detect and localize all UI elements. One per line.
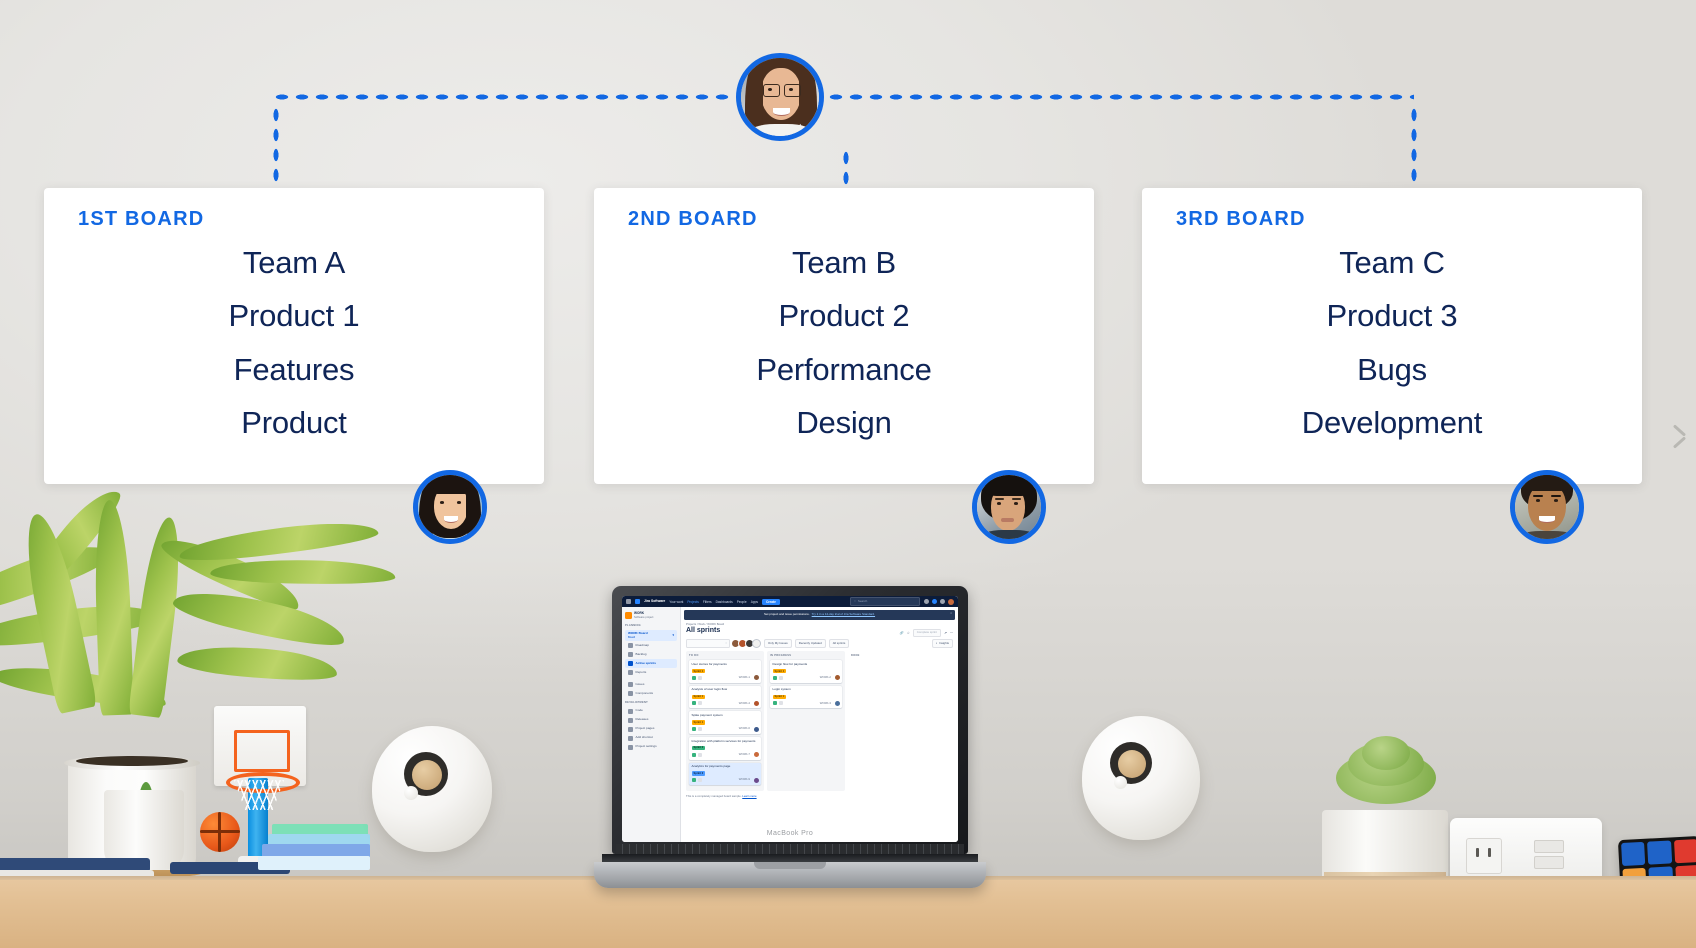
issue-title: Analytics for payments page (692, 765, 759, 769)
sidebar-section-development: DEVELOPMENT (625, 701, 677, 704)
issue-card-footer: WORK-9 (692, 778, 759, 783)
avatar[interactable] (754, 675, 759, 680)
sidebar-label-issues: Issues (636, 683, 645, 687)
code-icon (628, 709, 633, 714)
priority-icon (698, 753, 702, 757)
connector-vertical-left (272, 105, 280, 193)
priority-icon (779, 701, 783, 705)
board-card-1-line-3: Features (44, 343, 544, 396)
sidebar-item-add-shortcut[interactable]: Add shortcut (625, 734, 677, 743)
priority-icon (698, 701, 702, 705)
column-in-progress: IN PROGRESS Design flow for payments Spr… (767, 651, 845, 791)
macbook-pro-laptop: Jira Software Your work Projects Filters… (594, 586, 986, 904)
sidebar-item-project-pages[interactable]: Project pages (625, 725, 677, 734)
issue-title: Login system (773, 688, 840, 692)
board-selector-sub: Board (628, 636, 635, 639)
sprint-tag: Sprint 1 (773, 669, 787, 673)
issue-card[interactable]: Login system Sprint 1 WORK-3 (770, 686, 842, 709)
issue-card[interactable]: Analytics for payments page Sprint 2 WOR… (689, 763, 761, 786)
pages-icon (628, 727, 633, 732)
board-card-3-line-4: Development (1142, 396, 1642, 449)
board-card-2-line-4: Design (594, 396, 1094, 449)
board-columns: TO DO User stories for payments Sprint 1… (686, 651, 953, 791)
filter-recently-updated[interactable]: Recently Updated (795, 639, 826, 648)
board-search-input[interactable]: ○ (686, 639, 730, 648)
team-lead-avatar[interactable] (736, 53, 824, 141)
issue-key: WORK-3 (820, 702, 831, 705)
sprint-tag: Sprint 2 (692, 746, 706, 750)
nav-item-apps[interactable]: Apps (751, 600, 758, 604)
sprint-tag: Sprint 1 (692, 720, 706, 724)
board-card-2-lines: Team B Product 2 Performance Design (594, 236, 1094, 449)
priority-icon (698, 778, 702, 782)
gear-icon (628, 745, 633, 750)
sidebar-item-issues[interactable]: Issues (625, 680, 677, 689)
share-icon[interactable]: ↗ (944, 631, 947, 635)
sidebar-label-roadmap: Roadmap (636, 644, 649, 648)
avatar[interactable] (754, 701, 759, 706)
nav-item-your-work[interactable]: Your work (669, 600, 683, 604)
sidebar-label-reports: Reports (636, 671, 647, 675)
sidebar-label-add-shortcut: Add shortcut (636, 736, 653, 740)
issue-key: WORK-9 (739, 778, 750, 781)
issue-card[interactable]: User stories for payments Sprint 1 WORK-… (689, 660, 761, 683)
issue-key: WORK-7 (739, 753, 750, 756)
issue-type-icon (692, 676, 696, 680)
project-name: WORK (634, 611, 644, 615)
column-header: TO DO (689, 654, 761, 657)
sidebar-label-active-sprints: Active sprints (636, 662, 656, 666)
avatar-photo (1515, 475, 1579, 539)
issue-title: Design flow for payments (773, 663, 840, 667)
issue-card-footer: WORK-7 (692, 752, 759, 757)
insights-button[interactable]: ▪ Insights (932, 639, 953, 648)
priority-icon (698, 676, 702, 680)
jira-body: WORK Software project PLANNING WORK Boar… (622, 607, 958, 842)
nav-icon-group (924, 599, 954, 605)
app-switcher-icon[interactable] (626, 599, 631, 604)
connector-horizontal-right (826, 93, 1414, 101)
issue-type-icon (773, 676, 777, 680)
issue-card[interactable]: Analysis of user login flow Sprint 1 WOR… (689, 686, 761, 709)
more-icon[interactable]: ⋯ (950, 631, 953, 635)
avatar[interactable] (754, 778, 759, 783)
close-icon[interactable]: × (950, 612, 952, 616)
sidebar-item-roadmap[interactable]: Roadmap (625, 641, 677, 650)
insights-icon: ▪ (936, 642, 937, 646)
search-icon: ○ (725, 642, 727, 646)
roadmap-icon (628, 643, 633, 648)
avatar-photo (977, 475, 1041, 539)
board-card-1-line-1: Team A (44, 236, 544, 289)
sidebar-item-active-sprints[interactable]: Active sprints (625, 659, 677, 668)
connector-vertical-right (1410, 105, 1418, 193)
chevron-down-icon: ▾ (672, 634, 674, 638)
laptop-hinge (602, 854, 978, 862)
jira-brand-label[interactable]: Jira Software (644, 599, 665, 603)
board-card-2-line-2: Product 2 (594, 289, 1094, 342)
column-header: DONE (851, 654, 923, 657)
board-card-3-line-3: Bugs (1142, 343, 1642, 396)
avatar[interactable] (835, 701, 840, 706)
column-done: DONE (848, 651, 926, 791)
avatar-more[interactable] (752, 639, 761, 648)
issue-card[interactable]: Integration with platform services for p… (689, 737, 761, 760)
board-selector-label: WORK Board (628, 631, 648, 635)
issue-card-footer: WORK-1 (692, 675, 759, 680)
board-card-3[interactable]: 3RD BOARD Team C Product 3 Bugs Developm… (1142, 188, 1642, 484)
board-card-2-line-1: Team B (594, 236, 1094, 289)
board-toolbar: ○ Only My Issues Recently Updated All sp… (686, 639, 953, 648)
sidebar-item-components[interactable]: Components (625, 689, 677, 698)
nav-item-filters[interactable]: Filters (703, 600, 712, 604)
board-card-1-line-2: Product 1 (44, 289, 544, 342)
issue-title: Analysis of user login flow (692, 688, 759, 692)
board-card-3-line-2: Product 3 (1142, 289, 1642, 342)
filter-only-my-issues[interactable]: Only My Issues (764, 639, 792, 648)
sidebar-section-planning: PLANNING (625, 624, 677, 627)
column-header: IN PROGRESS (770, 654, 842, 657)
reports-icon (628, 670, 633, 675)
avatar[interactable] (835, 675, 840, 680)
board-card-3-eyebrow: 3RD BOARD (1176, 208, 1306, 231)
issue-type-icon (692, 727, 696, 731)
board-card-1[interactable]: 1ST BOARD Team A Product 1 Features Prod… (44, 188, 544, 484)
chevron-right-icon[interactable] (1668, 420, 1690, 454)
page-title: All sprints (686, 627, 720, 636)
sidebar-label-components: Components (636, 692, 654, 696)
assignee-avatar-group (733, 639, 761, 648)
jira-top-nav: Jira Software Your work Projects Filters… (622, 596, 958, 607)
jira-logo-icon (635, 599, 640, 604)
releases-icon (628, 718, 633, 723)
sidebar-label-project-pages: Project pages (636, 727, 655, 731)
star-icon[interactable]: ☆ (907, 631, 910, 635)
board-card-3-lines: Team C Product 3 Bugs Development (1142, 236, 1642, 449)
sidebar-project-header[interactable]: WORK Software project (625, 611, 677, 619)
board-card-3-avatar[interactable] (1510, 470, 1584, 544)
connector-horizontal-left (272, 93, 734, 101)
learn-more-link[interactable]: Learn more (742, 794, 756, 798)
plus-icon[interactable] (924, 599, 929, 604)
board-card-1-lines: Team A Product 1 Features Product (44, 236, 544, 449)
board-card-1-avatar[interactable] (413, 470, 487, 544)
sprint-tag: Sprint 2 (692, 771, 706, 775)
issues-icon (628, 682, 633, 687)
priority-icon (698, 727, 702, 731)
components-icon (628, 691, 633, 696)
global-search-input[interactable]: ○ Search (850, 597, 920, 606)
issue-key: WORK-1 (739, 676, 750, 679)
board-footer-note: This is a completely managed board sampl… (686, 795, 953, 798)
breadcrumb[interactable]: Projects / Work / WORK Board (686, 623, 953, 626)
issue-card-footer: WORK-6 (692, 727, 759, 732)
search-placeholder: Search (858, 600, 868, 604)
issue-card-footer: WORK-3 (773, 701, 840, 706)
priority-icon (779, 676, 783, 680)
jira-sidebar: WORK Software project PLANNING WORK Boar… (622, 607, 681, 842)
issue-type-icon (692, 753, 696, 757)
laptop-notch (754, 862, 826, 869)
nav-item-dashboards[interactable]: Dashboards (716, 600, 733, 604)
sidebar-item-project-settings[interactable]: Project settings (625, 743, 677, 752)
issue-key: WORK-4 (739, 702, 750, 705)
notifications-icon[interactable] (932, 599, 937, 604)
nav-item-people[interactable]: People (737, 600, 747, 604)
sidebar-label-code: Code (636, 709, 643, 713)
backlog-icon (628, 652, 633, 657)
avatar[interactable] (754, 727, 759, 732)
insights-label: Insights (939, 642, 949, 646)
profile-avatar[interactable] (948, 599, 954, 605)
board-card-2-avatar[interactable] (972, 470, 1046, 544)
sidebar-label-releases: Releases (636, 718, 649, 722)
issue-title: Spike payment system (692, 714, 759, 718)
project-type: Software project (634, 616, 653, 619)
sidebar-label-backlog: Backlog (636, 653, 647, 657)
footer-note-text: This is a completely managed board sampl… (686, 794, 742, 798)
sprint-tag: Sprint 1 (692, 695, 706, 699)
board-selector[interactable]: WORK Board Board ▾ (625, 630, 677, 642)
sprint-tag: Sprint 1 (773, 695, 787, 699)
avatar-photo (418, 475, 482, 539)
plus-icon (628, 736, 633, 741)
help-icon[interactable] (940, 599, 945, 604)
permissions-banner: Set project and issue permissions. Try i… (684, 610, 955, 620)
board-card-1-eyebrow: 1ST BOARD (78, 208, 204, 231)
page-title-actions: 🔗 ☆ Complete sprint ↗ ⋯ (900, 629, 953, 637)
banner-text: Set project and issue permissions. (764, 613, 810, 617)
avatar[interactable] (754, 752, 759, 757)
issue-card[interactable]: Design flow for payments Sprint 1 WORK-2 (770, 660, 842, 683)
sidebar-item-code[interactable]: Code (625, 707, 677, 716)
issue-type-icon (692, 701, 696, 705)
link-icon[interactable]: 🔗 (900, 631, 904, 635)
sprint-tag: Sprint 1 (692, 669, 706, 673)
issue-title: Integration with platform services for p… (692, 740, 759, 744)
project-avatar-icon (625, 612, 632, 619)
avatar-photo (741, 58, 819, 136)
issue-card-footer: WORK-2 (773, 675, 840, 680)
jira-software-app: Jira Software Your work Projects Filters… (622, 596, 958, 842)
issue-type-icon (773, 701, 777, 705)
issue-card-footer: WORK-4 (692, 701, 759, 706)
filter-all-sprints[interactable]: All sprints (829, 639, 850, 648)
sidebar-item-releases[interactable]: Releases (625, 716, 677, 725)
issue-key: WORK-2 (820, 676, 831, 679)
jira-main-content: Set project and issue permissions. Try i… (681, 607, 958, 842)
board-card-3-line-1: Team C (1142, 236, 1642, 289)
create-button[interactable]: Create (762, 599, 780, 605)
search-icon: ○ (854, 600, 856, 604)
issue-type-icon (692, 778, 696, 782)
board-card-1-line-4: Product (44, 396, 544, 449)
column-todo: TO DO User stories for payments Sprint 1… (686, 651, 764, 791)
issue-title: User stories for payments (692, 663, 759, 667)
board-card-2[interactable]: 2ND BOARD Team B Product 2 Performance D… (594, 188, 1094, 484)
issue-card[interactable]: Spike payment system Sprint 1 WORK-6 (689, 711, 761, 734)
laptop-screen: Jira Software Your work Projects Filters… (622, 596, 958, 842)
issue-key: WORK-6 (739, 727, 750, 730)
nav-item-projects[interactable]: Projects (687, 600, 699, 604)
laptop-model-label: MacBook Pro (594, 830, 986, 837)
sidebar-item-reports[interactable]: Reports (625, 668, 677, 677)
page-title-row: All sprints 🔗 ☆ Complete sprint ↗ ⋯ (681, 627, 958, 639)
sidebar-item-backlog[interactable]: Backlog (625, 650, 677, 659)
board-card-2-eyebrow: 2ND BOARD (628, 208, 758, 231)
basketball (200, 812, 240, 852)
sidebar-label-project-settings: Project settings (636, 745, 657, 749)
board-card-2-line-3: Performance (594, 343, 1094, 396)
complete-sprint-button[interactable]: Complete sprint (913, 629, 941, 637)
board-icon (628, 661, 633, 666)
banner-link[interactable]: Try it in a 14-day trial of Jira Softwar… (812, 613, 875, 617)
